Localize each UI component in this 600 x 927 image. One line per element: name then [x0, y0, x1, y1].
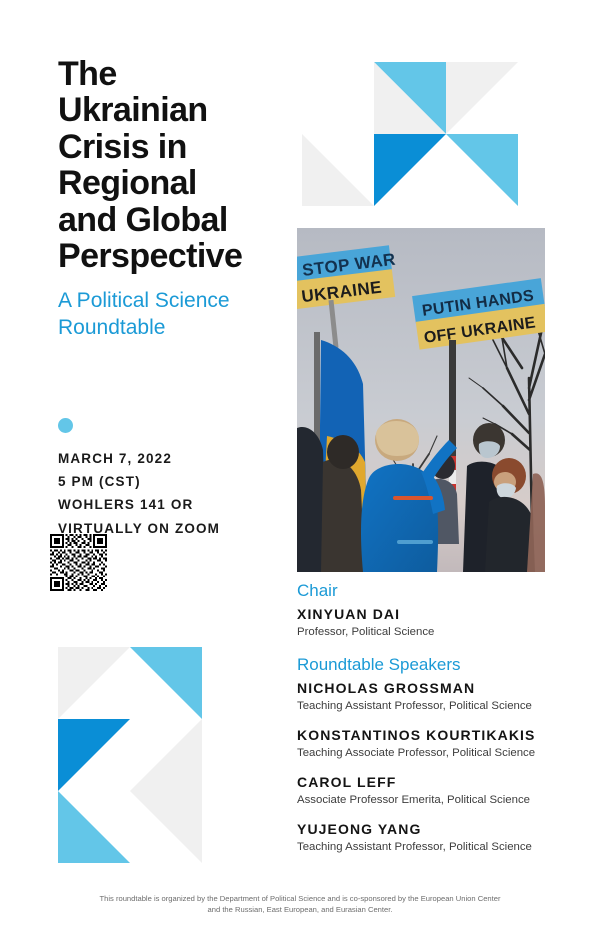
chair-heading: Chair: [297, 580, 567, 602]
pattern-cell: [302, 62, 374, 134]
page-title: The Ukrainian Crisis in Regional and Glo…: [58, 56, 298, 274]
pattern-cell: [130, 719, 202, 791]
speaker-name: XINYUAN DAI: [297, 605, 567, 624]
event-date: March 7, 2022: [58, 447, 298, 470]
pattern-cell: [302, 134, 374, 206]
speaker-name: YUJEONG YANG: [297, 820, 567, 839]
speaker-entry: YUJEONG YANG Teaching Assistant Professo…: [297, 820, 567, 856]
pattern-cell: [58, 647, 130, 719]
speaker-title: Teaching Assistant Professor, Political …: [297, 699, 567, 715]
speaker-title: Teaching Associate Professor, Political …: [297, 746, 567, 762]
pattern-cell: [446, 134, 518, 206]
qr-code-icon[interactable]: [50, 534, 107, 591]
protest-photo-illustration: STOP WAR UKRAINE PUTIN HANDS OFF UKRAINE: [297, 228, 545, 572]
speaker-title: Associate Professor Emerita, Political S…: [297, 793, 567, 809]
chair-group: Chair XINYUAN DAI Professor, Political S…: [297, 580, 567, 641]
footer-note: This roundtable is organized by the Depa…: [60, 893, 540, 915]
pattern-cell: [130, 791, 202, 863]
pattern-cell: [374, 62, 446, 134]
geometric-accent-top: [374, 62, 446, 134]
event-location: Wohlers 141 or: [58, 493, 298, 516]
event-time: 5 PM (CST): [58, 470, 298, 493]
bullet-dot-icon: [58, 418, 73, 433]
speaker-entry: KONSTANTINOS KOURTIKAKIS Teaching Associ…: [297, 726, 567, 762]
poster-subtitle: A Political Science Roundtable: [58, 288, 298, 341]
roundtable-speakers-heading: Roundtable Speakers: [297, 654, 567, 676]
speaker-title: Teaching Assistant Professor, Political …: [297, 840, 567, 856]
event-details-block: March 7, 2022 5 PM (CST) Wohlers 141 or …: [58, 418, 298, 540]
speakers-block: Chair XINYUAN DAI Professor, Political S…: [297, 580, 567, 866]
speaker-name: KONSTANTINOS KOURTIKAKIS: [297, 726, 567, 745]
pattern-cell: [374, 134, 446, 206]
speaker-entry: NICHOLAS GROSSMAN Teaching Assistant Pro…: [297, 679, 567, 715]
geometric-pattern-bottom-left: [58, 647, 202, 863]
speaker-name: CAROL LEFF: [297, 773, 567, 792]
protest-photo: STOP WAR UKRAINE PUTIN HANDS OFF UKRAINE: [297, 228, 545, 572]
chair-entry: XINYUAN DAI Professor, Political Science: [297, 605, 567, 641]
title-block: The Ukrainian Crisis in Regional and Glo…: [58, 56, 298, 342]
speaker-title: Professor, Political Science: [297, 625, 567, 641]
pattern-cell: [58, 791, 130, 863]
speaker-entry: CAROL LEFF Associate Professor Emerita, …: [297, 773, 567, 809]
pattern-cell: [130, 647, 202, 719]
speaker-name: NICHOLAS GROSSMAN: [297, 679, 567, 698]
pattern-cell: [58, 719, 130, 791]
pattern-cell: [446, 62, 518, 134]
